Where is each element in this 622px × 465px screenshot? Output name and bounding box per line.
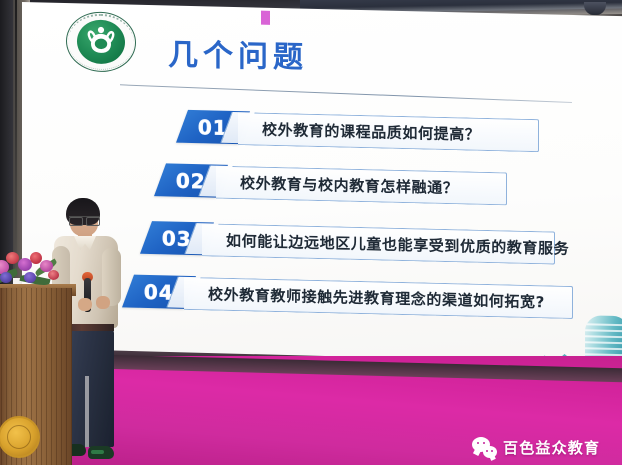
question-bar-04: 校外教育教师接触先进教育理念的渠道如何拓宽?	[184, 277, 573, 319]
question-text-03: 如何能让边远地区儿童也能享受到优质的教育服务	[226, 230, 569, 259]
watermark: 百色益众教育	[472, 435, 600, 459]
question-bar-02: 校外教育与校内教育怎样融通？	[216, 166, 507, 206]
question-bar-01: 校外教育的课程品质如何提高？	[238, 112, 539, 152]
lectern-emblem	[0, 416, 40, 458]
wooden-lectern	[0, 288, 72, 465]
question-bar-03: 如何能让边远地区儿童也能享受到优质的教育服务	[202, 223, 555, 264]
presentation-photo: 几个问题 01 校外教育的课程品质如何提高？ 02 校外教育与校内教育怎样融通？	[0, 0, 622, 465]
flower-arrangement	[0, 246, 66, 298]
presenter-shoe-right	[88, 446, 114, 459]
question-text-01: 校外教育的课程品质如何提高？	[262, 119, 480, 145]
slide-title: 几个问题	[168, 30, 308, 77]
question-text-04: 校外教育教师接触先进教育理念的渠道如何拓宽?	[208, 283, 545, 312]
logo-child-figure-icon	[86, 25, 116, 58]
title-divider	[120, 84, 572, 103]
screen-artifact	[261, 11, 270, 25]
wechat-icon-bubble-small	[483, 446, 497, 458]
wechat-icon	[472, 437, 497, 458]
question-text-02: 校外教育与校内教育怎样融通？	[240, 172, 458, 198]
watermark-text: 百色益众教育	[503, 437, 600, 458]
organization-logo	[66, 11, 136, 73]
glasses-icon	[69, 216, 100, 224]
column-seam	[15, 0, 17, 278]
presenter-leg-gap	[85, 376, 89, 447]
presenter-hand-right	[96, 296, 110, 309]
presenter-hand-left	[78, 298, 92, 311]
